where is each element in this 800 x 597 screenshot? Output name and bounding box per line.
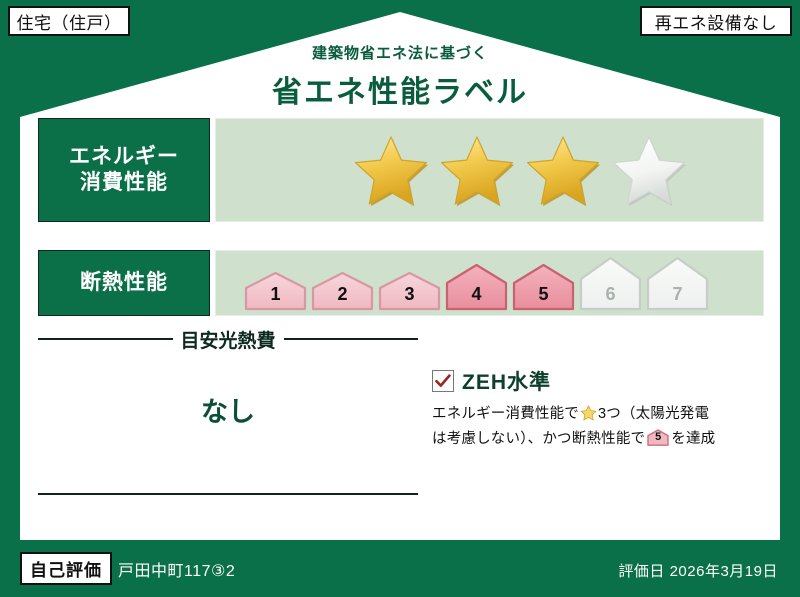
evaluation-date: 評価日 2026年3月19日 <box>618 560 778 581</box>
house-level-number: 4 <box>445 284 508 305</box>
house-icon-filled: 1 <box>244 271 307 311</box>
house-icon-empty: 6 <box>579 256 642 311</box>
house-level-number: 3 <box>378 284 441 305</box>
estimated-cost-bottom-divider <box>38 493 418 495</box>
house-icon-empty: 7 <box>646 256 709 311</box>
energy-label-line2: 消費性能 <box>80 170 168 196</box>
house-icon-filled: 5 <box>512 263 575 311</box>
insulation-label-text: 断熱性能 <box>80 270 168 296</box>
star-icon-filled <box>439 134 515 207</box>
self-evaluation-badge: 自己評価 <box>20 552 112 585</box>
zeh-desc-part2: は考慮しない）、かつ断熱性能で <box>432 431 645 447</box>
energy-label-line1: エネルギー <box>69 144 179 170</box>
zeh-description: エネルギー消費性能で 3つ（太陽光発電は考慮しない）、かつ断熱性能で 5 を達成 <box>432 403 770 454</box>
energy-performance-row: エネルギー 消費性能 <box>38 118 764 222</box>
estimated-cost-title: 目安光熱費 <box>181 326 276 353</box>
insulation-performance-label-box: 断熱性能 <box>38 250 210 316</box>
zeh-desc-part1: エネルギー消費性能で <box>432 406 579 422</box>
house-level-number: 5 <box>512 284 575 305</box>
energy-rating-panel <box>215 118 764 222</box>
house-icon-level: 5 <box>646 429 670 446</box>
zeh-standard-block: ZEH水準 エネルギー消費性能で 3つ（太陽光発電は考慮しない）、かつ断熱性能で… <box>432 366 770 454</box>
house-level-number: 2 <box>311 284 374 305</box>
energy-performance-label-box: エネルギー 消費性能 <box>38 118 210 222</box>
dwelling-type-tag: 住宅（住戸） <box>8 6 130 36</box>
check-icon <box>432 370 454 392</box>
zeh-desc-star-count: 3つ（太陽光発電 <box>598 406 709 422</box>
house-level-number: 7 <box>646 284 709 305</box>
house-level-number: 6 <box>579 284 642 305</box>
rule-right <box>284 338 419 340</box>
star-icon-inline <box>580 405 597 428</box>
estimated-cost-value: なし <box>38 390 418 429</box>
star-icon-filled <box>525 134 601 207</box>
house-icon-inline: 5 <box>646 429 670 453</box>
title-subtitle: 建築物省エネ法に基づく <box>0 42 800 63</box>
zeh-header: ZEH水準 <box>432 366 770 396</box>
insulation-rating-panel: 1234567 <box>215 250 764 316</box>
footer-left-group: 自己評価 戸田中町117③2 <box>20 552 235 585</box>
house-icon-filled: 4 <box>445 263 508 311</box>
zeh-title: ZEH水準 <box>462 366 551 396</box>
house-icon-filled: 3 <box>378 271 441 311</box>
property-address: 戸田中町117③2 <box>118 557 235 581</box>
label-title-block: 建築物省エネ法に基づく 省エネ性能ラベル <box>0 42 800 111</box>
house-level-number: 1 <box>244 284 307 305</box>
renewable-equipment-tag: 再エネ設備なし <box>640 6 792 36</box>
energy-performance-label: 住宅（住戸） 再エネ設備なし 建築物省エネ法に基づく 省エネ性能ラベル エネルギ… <box>0 0 800 597</box>
page-title: 省エネ性能ラベル <box>0 67 800 111</box>
insulation-level-scale: 1234567 <box>244 256 709 311</box>
star-rating <box>353 134 687 207</box>
star-icon-filled <box>353 134 429 207</box>
insulation-performance-row: 断熱性能 1234567 <box>38 250 764 316</box>
house-icon-filled: 2 <box>311 271 374 311</box>
estimated-cost-header: 目安光熱費 <box>38 328 418 350</box>
star-icon-empty <box>611 134 687 207</box>
zeh-desc-part3: を達成 <box>671 431 715 447</box>
rule-left <box>38 338 173 340</box>
